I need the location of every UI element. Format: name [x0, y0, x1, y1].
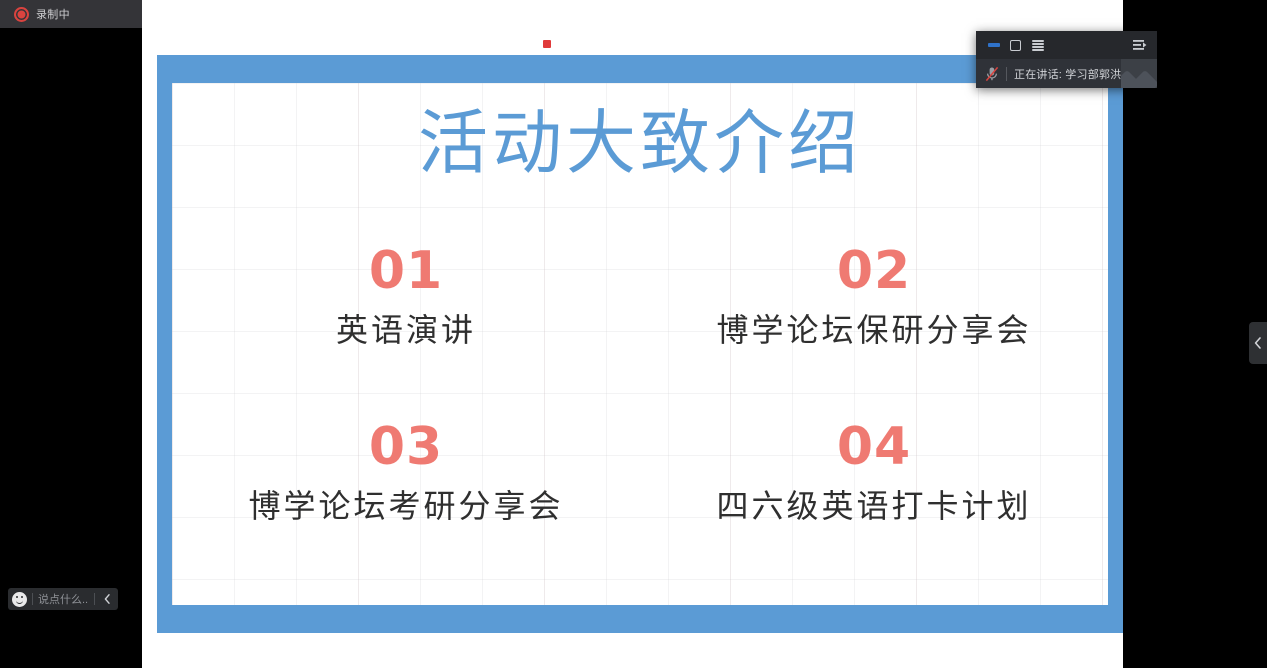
recording-badge[interactable]: 录制中 [0, 0, 142, 28]
slide-item-01: 01 英语演讲 [172, 233, 640, 409]
slide-item-label: 英语演讲 [336, 311, 476, 349]
slide-canvas: 活动大致介绍 01 英语演讲 02 博学论坛保研分享会 03 博学论坛考研分享会 [172, 83, 1108, 605]
slide-item-number: 02 [837, 245, 911, 297]
participants-list-icon[interactable] [1030, 38, 1045, 53]
chat-divider [32, 593, 33, 605]
minimize-icon[interactable] [986, 38, 1001, 53]
floating-panel-body: 正在讲话: 学习部郭洪鑫 [976, 59, 1157, 88]
chevron-left-icon [1254, 337, 1262, 349]
emoji-icon[interactable] [12, 592, 27, 607]
screen-root: 录制中 活动大致介绍 01 英语演讲 02 博学论坛保研分享会 03 [0, 0, 1267, 668]
slide-items-grid: 01 英语演讲 02 博学论坛保研分享会 03 博学论坛考研分享会 04 四六级… [172, 233, 1108, 585]
panel-divider [1006, 67, 1007, 81]
recording-label: 录制中 [36, 6, 70, 22]
speaker-avatar[interactable] [1121, 59, 1157, 88]
microphone-muted-icon[interactable] [982, 64, 1002, 84]
chat-input-bar[interactable]: 说点什么... [8, 588, 118, 610]
meeting-floating-panel[interactable]: 正在讲话: 学习部郭洪鑫 [976, 31, 1157, 88]
slide-frame: 活动大致介绍 01 英语演讲 02 博学论坛保研分享会 03 博学论坛考研分享会 [157, 55, 1123, 633]
record-dot-icon [14, 7, 29, 22]
slide-item-label: 四六级英语打卡计划 [716, 487, 1031, 525]
slide-item-number: 03 [369, 421, 443, 473]
remote-cursor-marker [543, 40, 551, 48]
slide-title: 活动大致介绍 [172, 105, 1108, 186]
chat-input-placeholder[interactable]: 说点什么... [38, 591, 89, 607]
slide-item-label: 博学论坛考研分享会 [248, 487, 563, 525]
desktop-left-strip-lower [0, 28, 142, 668]
side-panel-collapse-tab[interactable] [1249, 322, 1267, 364]
slide-item-03: 03 博学论坛考研分享会 [172, 409, 640, 585]
slide-item-label: 博学论坛保研分享会 [716, 311, 1031, 349]
slide-item-04: 04 四六级英语打卡计划 [640, 409, 1108, 585]
maximize-icon[interactable] [1008, 38, 1023, 53]
chat-divider [94, 593, 95, 605]
expand-panel-icon[interactable] [1131, 37, 1149, 53]
slide-item-number: 01 [369, 245, 443, 297]
slide-item-02: 02 博学论坛保研分享会 [640, 233, 1108, 409]
desktop-right-gutter [1123, 0, 1267, 668]
chat-collapse-icon[interactable] [100, 591, 114, 607]
active-speaker-status: 正在讲话: 学习部郭洪鑫 [1014, 66, 1133, 82]
shared-content-area: 活动大致介绍 01 英语演讲 02 博学论坛保研分享会 03 博学论坛考研分享会 [142, 0, 1123, 668]
slide-item-number: 04 [837, 421, 911, 473]
floating-panel-titlebar[interactable] [976, 31, 1157, 59]
